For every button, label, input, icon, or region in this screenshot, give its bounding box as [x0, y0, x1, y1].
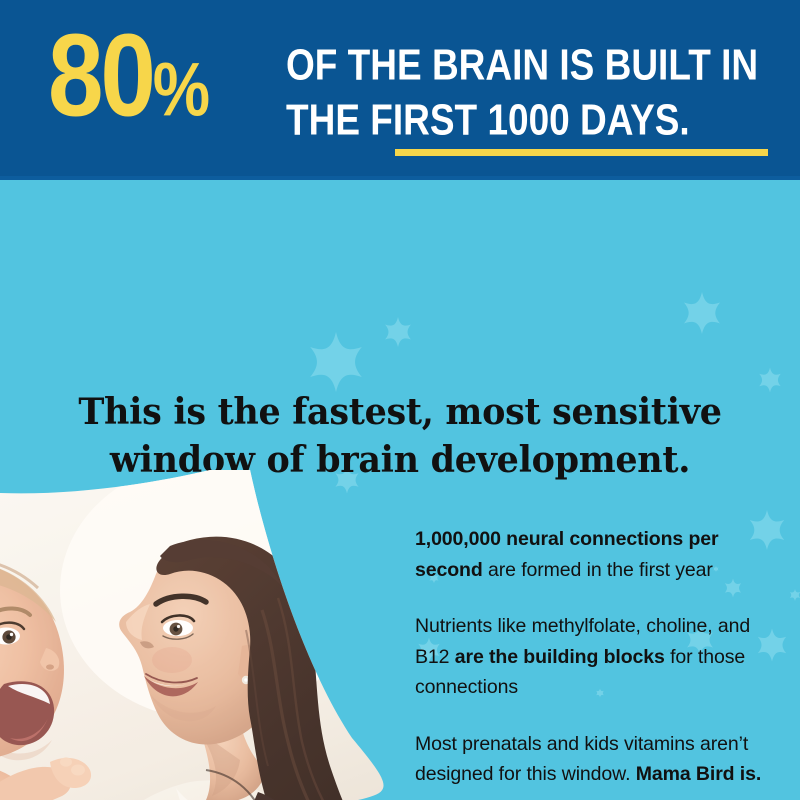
benefit-2-emphasis: are the building blocks [455, 646, 665, 668]
header-accent-underline [395, 149, 768, 156]
header-headline-line-2: THE FIRST 1000 DAYS. [286, 93, 786, 147]
benefits-list: 1,000,000 neural connections per second … [415, 524, 765, 790]
header-band: 80% OF THE BRAIN IS BUILT IN THE FIRST 1… [0, 0, 800, 180]
stat-percentage: 80% [48, 18, 208, 150]
sparkle-icon [310, 332, 362, 392]
benefit-item-2: Nutrients like methylfolate, choline, an… [415, 611, 765, 703]
header-inner: 80% OF THE BRAIN IS BUILT IN THE FIRST 1… [0, 0, 800, 180]
stat-number: 80 [48, 11, 153, 142]
sparkle-icon [385, 317, 411, 347]
benefit-item-1: 1,000,000 neural connections per second … [415, 524, 765, 585]
body-band: This is the fastest, most sensitive wind… [0, 180, 800, 800]
header-headline: OF THE BRAIN IS BUILT IN THE FIRST 1000 … [286, 38, 786, 139]
sparkle-icon [790, 589, 800, 601]
infographic-poster: 80% OF THE BRAIN IS BUILT IN THE FIRST 1… [0, 0, 800, 800]
body-headline-line-1: This is the fastest, most sensitive [78, 391, 721, 433]
hero-photo-content [0, 470, 400, 800]
sparkle-icon [684, 292, 720, 334]
stat-percent-symbol: % [153, 49, 208, 133]
header-headline-line-1: OF THE BRAIN IS BUILT IN [286, 38, 786, 92]
benefit-3-brand: Mama Bird is. [636, 763, 762, 785]
hero-photo-svg [0, 470, 400, 800]
benefit-1-lead: 1,000,000 neural connections [415, 528, 683, 550]
hero-photo [0, 470, 400, 800]
benefit-1-rest: are formed in the first year [483, 559, 713, 581]
benefit-item-3: Most prenatals and kids vitamins aren’t … [415, 729, 765, 790]
